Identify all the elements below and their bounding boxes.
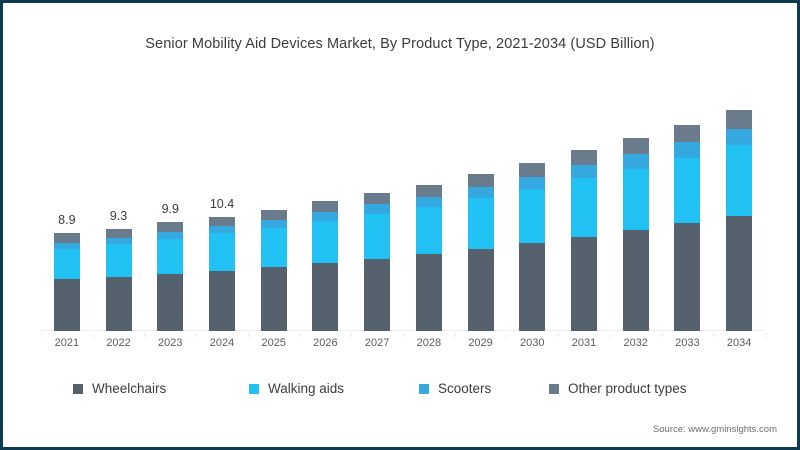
legend-swatch-scooters xyxy=(419,384,429,394)
x-tick-mark-end xyxy=(765,333,766,338)
bar-segment-wheelchairs-2030[interactable] xyxy=(519,243,545,331)
legend-label-other-product-types: Other product types xyxy=(568,381,687,396)
bar-segment-other-product-types-2028[interactable] xyxy=(416,185,442,197)
bar-group-2021: 8.9 xyxy=(54,233,80,331)
stacked-bar-2022[interactable] xyxy=(106,229,132,331)
stacked-bar-2021[interactable] xyxy=(54,233,80,331)
bar-segment-scooters-2024[interactable] xyxy=(209,226,235,234)
bar-segment-walking-aids-2023[interactable] xyxy=(157,239,183,274)
bar-group-2024: 10.4 xyxy=(209,217,235,331)
stacked-bar-2031[interactable] xyxy=(571,150,597,331)
bar-segment-scooters-2033[interactable] xyxy=(674,142,700,157)
stacked-bar-2029[interactable] xyxy=(468,174,494,331)
source-attribution: Source: www.gminsights.com xyxy=(653,424,777,435)
bar-segment-other-product-types-2032[interactable] xyxy=(623,138,649,154)
bar-segment-wheelchairs-2034[interactable] xyxy=(726,216,752,331)
chart-legend: WheelchairsWalking aidsScootersOther pro… xyxy=(73,381,733,403)
stacked-bar-2026[interactable] xyxy=(312,201,338,331)
bar-segment-walking-aids-2033[interactable] xyxy=(674,158,700,224)
bar-segment-scooters-2025[interactable] xyxy=(261,220,287,228)
bar-segment-other-product-types-2021[interactable] xyxy=(54,233,80,243)
bar-segment-scooters-2023[interactable] xyxy=(157,232,183,239)
bar-segment-wheelchairs-2027[interactable] xyxy=(364,259,390,331)
bar-segment-walking-aids-2024[interactable] xyxy=(209,233,235,270)
stacked-bar-2024[interactable] xyxy=(209,217,235,331)
plot-area: 8.99.39.910.4 xyxy=(41,73,765,331)
bar-segment-walking-aids-2025[interactable] xyxy=(261,228,287,268)
legend-label-walking-aids: Walking aids xyxy=(268,381,344,396)
bar-group-2032 xyxy=(623,138,649,331)
bar-segment-other-product-types-2022[interactable] xyxy=(106,229,132,238)
bar-segment-scooters-2026[interactable] xyxy=(312,212,338,221)
bar-segment-walking-aids-2022[interactable] xyxy=(106,244,132,277)
bar-segment-scooters-2030[interactable] xyxy=(519,177,545,189)
bar-segment-walking-aids-2028[interactable] xyxy=(416,207,442,254)
bar-segment-scooters-2022[interactable] xyxy=(106,238,132,245)
bar-value-label-2024: 10.4 xyxy=(187,197,257,211)
stacked-bar-2030[interactable] xyxy=(519,163,545,331)
bar-group-2022: 9.3 xyxy=(106,229,132,331)
stacked-bar-2034[interactable] xyxy=(726,110,752,331)
bar-segment-other-product-types-2024[interactable] xyxy=(209,217,235,226)
bar-group-2023: 9.9 xyxy=(157,222,183,331)
bar-segment-other-product-types-2023[interactable] xyxy=(157,222,183,232)
axis-baseline xyxy=(41,330,765,331)
bar-group-2029 xyxy=(468,174,494,331)
bar-group-2031 xyxy=(571,150,597,331)
bar-group-2034 xyxy=(726,110,752,331)
stacked-bar-2028[interactable] xyxy=(416,185,442,331)
bar-segment-other-product-types-2033[interactable] xyxy=(674,125,700,143)
bar-segment-wheelchairs-2028[interactable] xyxy=(416,254,442,331)
stacked-bar-2032[interactable] xyxy=(623,138,649,331)
bar-group-2025 xyxy=(261,210,287,331)
bar-segment-scooters-2034[interactable] xyxy=(726,129,752,145)
bar-segment-scooters-2027[interactable] xyxy=(364,204,390,214)
bar-segment-other-product-types-2034[interactable] xyxy=(726,110,752,129)
bar-segment-scooters-2032[interactable] xyxy=(623,154,649,168)
bar-segment-wheelchairs-2029[interactable] xyxy=(468,249,494,331)
chart-card: Senior Mobility Aid Devices Market, By P… xyxy=(0,0,800,450)
bar-group-2030 xyxy=(519,163,545,331)
chart-title: Senior Mobility Aid Devices Market, By P… xyxy=(3,36,797,52)
legend-label-scooters: Scooters xyxy=(438,381,491,396)
bar-segment-other-product-types-2026[interactable] xyxy=(312,201,338,212)
bar-segment-other-product-types-2030[interactable] xyxy=(519,163,545,177)
bar-segment-wheelchairs-2025[interactable] xyxy=(261,267,287,331)
x-axis: 2021202220232024202520262027202820292030… xyxy=(41,333,765,353)
legend-item-other-product-types[interactable]: Other product types xyxy=(549,381,687,396)
bar-segment-scooters-2029[interactable] xyxy=(468,187,494,198)
bar-segment-wheelchairs-2031[interactable] xyxy=(571,237,597,331)
bar-segment-scooters-2028[interactable] xyxy=(416,197,442,207)
bar-segment-walking-aids-2030[interactable] xyxy=(519,189,545,243)
bar-segment-wheelchairs-2023[interactable] xyxy=(157,274,183,331)
bar-segment-other-product-types-2029[interactable] xyxy=(468,174,494,187)
bar-segment-walking-aids-2026[interactable] xyxy=(312,221,338,263)
bar-segment-wheelchairs-2033[interactable] xyxy=(674,223,700,331)
stacked-bar-2023[interactable] xyxy=(157,222,183,331)
bar-segment-scooters-2031[interactable] xyxy=(571,165,597,178)
bar-segment-other-product-types-2027[interactable] xyxy=(364,193,390,204)
stacked-bar-2025[interactable] xyxy=(261,210,287,331)
legend-swatch-wheelchairs xyxy=(73,384,83,394)
bar-group-2028 xyxy=(416,185,442,331)
bar-segment-wheelchairs-2022[interactable] xyxy=(106,277,132,331)
legend-swatch-other-product-types xyxy=(549,384,559,394)
bar-group-2027 xyxy=(364,193,390,331)
bar-segment-other-product-types-2025[interactable] xyxy=(261,210,287,220)
bar-segment-wheelchairs-2021[interactable] xyxy=(54,279,80,331)
bar-segment-other-product-types-2031[interactable] xyxy=(571,150,597,165)
bar-segment-wheelchairs-2026[interactable] xyxy=(312,263,338,331)
bar-group-2026 xyxy=(312,201,338,331)
legend-label-wheelchairs: Wheelchairs xyxy=(92,381,166,396)
legend-item-walking-aids[interactable]: Walking aids xyxy=(249,381,344,396)
bar-segment-walking-aids-2029[interactable] xyxy=(468,198,494,249)
bar-segment-wheelchairs-2032[interactable] xyxy=(623,230,649,331)
legend-item-wheelchairs[interactable]: Wheelchairs xyxy=(73,381,166,396)
legend-swatch-walking-aids xyxy=(249,384,259,394)
x-axis-label-2034: 2034 xyxy=(709,337,769,349)
legend-item-scooters[interactable]: Scooters xyxy=(419,381,491,396)
bar-segment-walking-aids-2031[interactable] xyxy=(571,178,597,236)
bar-segment-walking-aids-2027[interactable] xyxy=(364,214,390,259)
bar-segment-wheelchairs-2024[interactable] xyxy=(209,271,235,331)
stacked-bar-2033[interactable] xyxy=(674,125,700,331)
stacked-bar-2027[interactable] xyxy=(364,193,390,331)
bar-group-2033 xyxy=(674,125,700,331)
bar-segment-walking-aids-2034[interactable] xyxy=(726,145,752,215)
bar-segment-walking-aids-2032[interactable] xyxy=(623,169,649,230)
bar-segment-walking-aids-2021[interactable] xyxy=(54,249,80,280)
